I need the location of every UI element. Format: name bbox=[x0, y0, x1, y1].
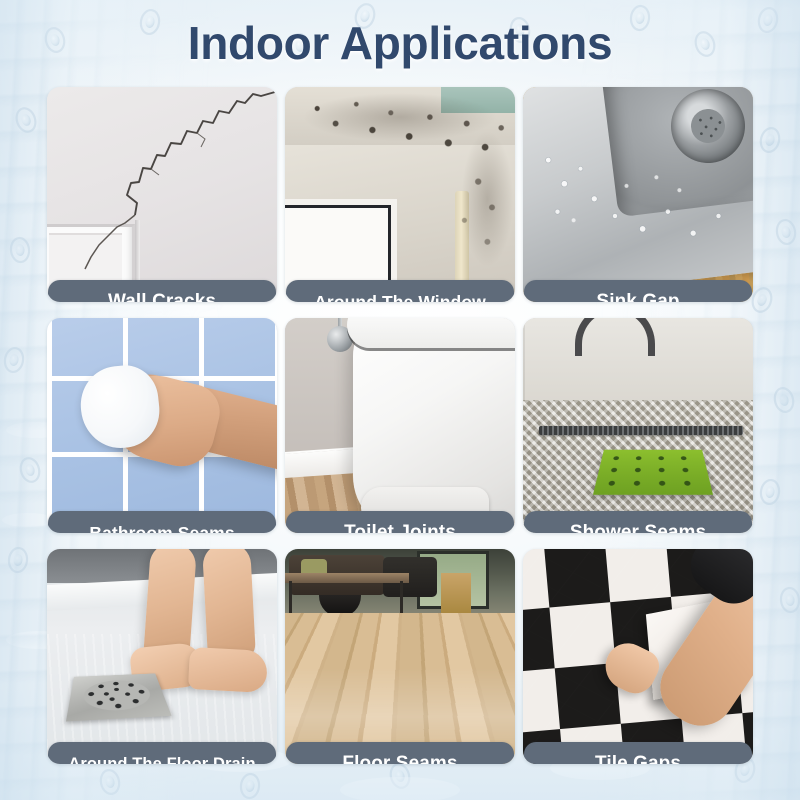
application-cell-tile-gaps[interactable]: Tile Gaps bbox=[523, 549, 753, 764]
around-the-window-photo bbox=[285, 87, 515, 302]
bathroom-seams-photo bbox=[47, 318, 277, 533]
caption-around-the-floor-drain: Around The Floor Drain bbox=[48, 742, 276, 764]
caption-around-the-window: Around The Window bbox=[286, 280, 514, 302]
application-cell-toilet-joints[interactable]: Toilet Joints bbox=[285, 318, 515, 533]
around-the-floor-drain-photo bbox=[47, 549, 277, 764]
toilet-joints-photo bbox=[285, 318, 515, 533]
shower-hose-shape bbox=[575, 318, 655, 356]
application-cell-shower-seams[interactable]: Shower Seams bbox=[523, 318, 753, 533]
water-droplets-texture bbox=[523, 87, 753, 302]
toilet-seat-shape bbox=[347, 318, 515, 348]
applications-grid: Wall Cracks Around The Window bbox=[47, 87, 753, 782]
application-cell-wall-cracks[interactable]: Wall Cracks bbox=[47, 87, 277, 302]
caption-sink-gap: Sink Gap bbox=[524, 280, 752, 302]
caption-bathroom-seams: Bathroom Seams bbox=[48, 511, 276, 533]
linear-drain-shape bbox=[539, 426, 743, 435]
application-cell-around-the-floor-drain[interactable]: Around The Floor Drain bbox=[47, 549, 277, 764]
application-cell-floor-seams[interactable]: Floor Seams bbox=[285, 549, 515, 764]
right-foot-shape bbox=[188, 647, 268, 693]
crack-lines bbox=[47, 87, 277, 302]
caption-shower-seams: Shower Seams bbox=[524, 511, 752, 533]
square-floor-drain-grate bbox=[66, 673, 172, 721]
sink-gap-photo bbox=[523, 87, 753, 302]
application-cell-sink-gap[interactable]: Sink Gap bbox=[523, 87, 753, 302]
mold-spots-texture bbox=[285, 87, 515, 302]
application-cell-around-the-window[interactable]: Around The Window bbox=[285, 87, 515, 302]
caption-toilet-joints: Toilet Joints bbox=[286, 511, 514, 533]
application-cell-bathroom-seams[interactable]: Bathroom Seams bbox=[47, 318, 277, 533]
shower-seams-photo bbox=[523, 318, 753, 533]
caption-tile-gaps: Tile Gaps bbox=[524, 742, 752, 764]
floor-sheen-overlay bbox=[285, 549, 515, 764]
caption-wall-cracks: Wall Cracks bbox=[48, 280, 276, 302]
green-shower-mat-shape bbox=[593, 450, 713, 495]
caption-floor-seams: Floor Seams bbox=[286, 742, 514, 764]
page-title-container: Indoor Applications bbox=[0, 8, 800, 78]
infographic-page: Indoor Applications Wall Cracks bbox=[0, 0, 800, 800]
floor-seams-photo bbox=[285, 549, 515, 764]
wall-cracks-photo bbox=[47, 87, 277, 302]
tile-gaps-photo bbox=[523, 549, 753, 764]
right-leg-shape bbox=[202, 549, 256, 662]
page-title: Indoor Applications bbox=[188, 20, 612, 66]
